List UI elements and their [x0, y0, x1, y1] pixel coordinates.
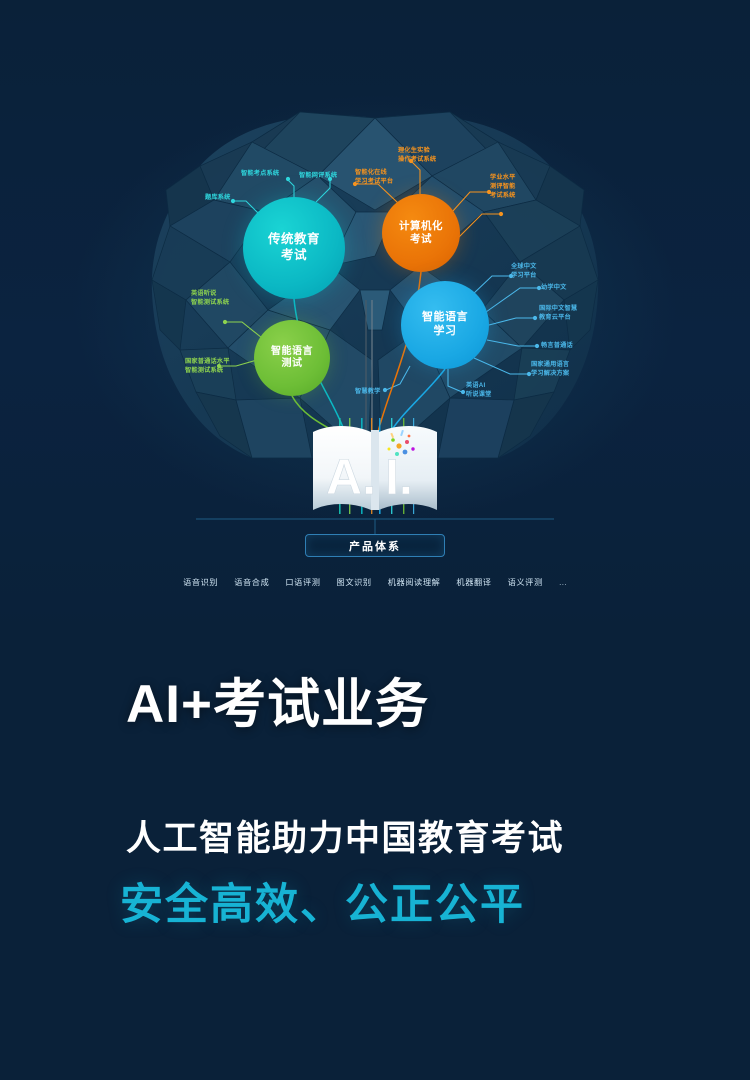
leaf-early-chinese[interactable]: 幼学中文: [541, 284, 567, 293]
poster-page: 传统教育 考试 计算机化 考试 智能语言 学习 智能语言 测试 智能考点系统 智…: [0, 0, 750, 1080]
leaf-intl-chinese-cloud-platform[interactable]: 国际中文智慧 教育云平台: [539, 305, 577, 323]
tag-semantic-assessment[interactable]: 语义评测: [508, 576, 543, 588]
hero-infographic: 传统教育 考试 计算机化 考试 智能语言 学习 智能语言 测试 智能考点系统 智…: [0, 0, 750, 632]
copy-section: AI+考试业务 人工智能助力中国教育考试 安全高效、公正公平: [0, 632, 750, 1080]
leaf-lab-operation-exam-system[interactable]: 理化生实验 操作考试系统: [398, 147, 436, 165]
tag-machine-reading[interactable]: 机器阅读理解: [388, 576, 441, 588]
subtitle-highlight: 安全高效、公正公平: [120, 884, 525, 927]
node-traditional-exam[interactable]: 传统教育 考试: [243, 197, 345, 299]
ai-book-emblem: A. I.: [305, 418, 445, 514]
tag-speech-recognition[interactable]: 语音识别: [183, 576, 218, 588]
page-title: AI+考试业务: [126, 678, 429, 731]
node-traditional-exam-line1: 传统教育: [268, 232, 320, 248]
leaf-english-listening-test-system[interactable]: 英语听说 智能测试系统: [191, 290, 229, 308]
node-intelligent-language-testing[interactable]: 智能语言 测试: [254, 320, 330, 396]
leaf-putonghua-level-test-system[interactable]: 国家普通话水平 智能测试系统: [185, 358, 230, 376]
leaf-smart-exam-room-system[interactable]: 智能考点系统: [241, 170, 279, 179]
leaf-online-learning-exam-platform[interactable]: 智能化在线 学习考试平台: [355, 169, 393, 187]
svg-text:I.: I.: [385, 449, 413, 505]
leaf-ai-teaching[interactable]: 智慧教学: [355, 388, 381, 397]
node-computerized-exam[interactable]: 计算机化 考试: [382, 194, 460, 272]
product-system-pill[interactable]: 产品体系: [305, 534, 445, 557]
tag-ocr[interactable]: 图文识别: [337, 576, 372, 588]
node-computerized-exam-line1: 计算机化: [399, 220, 443, 233]
leaf-english-ai-listening-class[interactable]: 英语AI 听说课堂: [466, 382, 492, 400]
node-traditional-exam-line2: 考试: [281, 248, 307, 264]
node-language-learning-line1: 智能语言: [422, 311, 468, 325]
leaf-changyan-putonghua[interactable]: 畅言普通话: [541, 342, 573, 351]
node-intelligent-language-learning[interactable]: 智能语言 学习: [401, 281, 489, 369]
leaf-smart-marking-system[interactable]: 智能网评系统: [299, 172, 337, 181]
tag-oral-assessment[interactable]: 口语评测: [285, 576, 320, 588]
leaf-academic-level-test-system[interactable]: 学业水平 测评智能 考试系统: [490, 174, 516, 201]
svg-text:A.: A.: [326, 449, 376, 505]
leaf-national-language-solution[interactable]: 国家通用语言 学习解决方案: [531, 361, 569, 379]
tag-speech-synthesis[interactable]: 语音合成: [234, 576, 269, 588]
tag-more-ellipsis: …: [559, 578, 567, 587]
tag-machine-translation[interactable]: 机器翻译: [456, 576, 491, 588]
leaf-question-bank-system[interactable]: 题库系统: [205, 194, 231, 203]
leaf-global-chinese-learning[interactable]: 全球中文 学习平台: [511, 263, 537, 281]
subtitle-primary: 人工智能助力中国教育考试: [126, 821, 564, 856]
node-computerized-exam-line2: 考试: [410, 233, 432, 246]
node-language-testing-line2: 测试: [282, 358, 303, 371]
node-language-learning-line2: 学习: [434, 325, 457, 339]
node-language-testing-line1: 智能语言: [271, 346, 313, 359]
capability-tag-strip: 语音识别 语音合成 口语评测 图文识别 机器阅读理解 机器翻译 语义评测 …: [0, 576, 750, 588]
